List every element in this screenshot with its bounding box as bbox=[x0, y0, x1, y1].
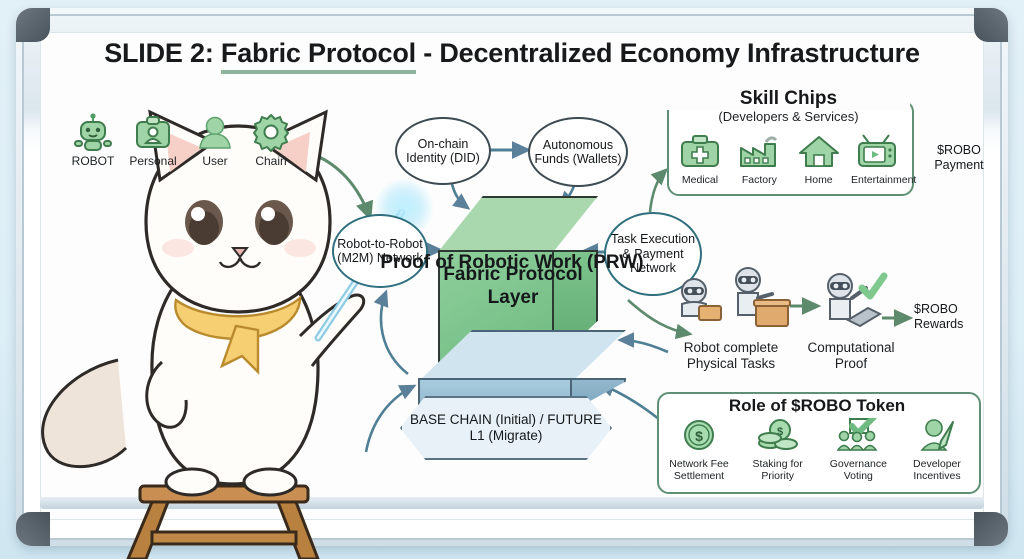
svg-text:$: $ bbox=[695, 428, 703, 444]
gear-icon bbox=[251, 112, 291, 152]
skill-chip-label: Home bbox=[792, 174, 846, 186]
prw-title: Proof of Robotic Work (PRW) bbox=[0, 252, 1024, 274]
id-card-icon bbox=[133, 112, 173, 152]
prw-step-label-2: Computational Proof bbox=[796, 340, 906, 371]
frame-corner-bottom-left bbox=[16, 512, 50, 546]
actor-chain[interactable]: Chain bbox=[240, 112, 302, 168]
skill-chips-subtitle: (Developers & Services) bbox=[667, 110, 910, 125]
cube-top-face bbox=[438, 196, 598, 252]
robot-working-icon bbox=[726, 266, 792, 330]
actor-user[interactable]: User bbox=[184, 112, 246, 168]
role-item-label: Developer Incentives bbox=[903, 458, 971, 482]
coin-stack-icon: $ bbox=[756, 418, 800, 452]
role-item-label: Network Fee Settlement bbox=[663, 458, 735, 482]
coin-icon: $ bbox=[681, 418, 717, 452]
frame-corner-bottom-right bbox=[974, 512, 1008, 546]
role-item-label: Governance Voting bbox=[820, 458, 896, 482]
skill-chip-label: Factory bbox=[732, 174, 786, 186]
robot-laptop-icon bbox=[818, 272, 890, 332]
slide-title: SLIDE 2: Fabric Protocol - Decentralized… bbox=[0, 38, 1024, 69]
skill-chip-factory[interactable]: Factory bbox=[732, 134, 786, 186]
node-wallets[interactable]: Autonomous Funds (Wallets) bbox=[528, 117, 628, 187]
role-token-title: Role of $ROBO Token bbox=[657, 396, 977, 416]
role-item-governance[interactable]: Governance Voting bbox=[820, 418, 896, 482]
robot-sitting-icon bbox=[672, 276, 732, 328]
actor-robot[interactable]: ROBOT bbox=[62, 112, 124, 168]
role-item-staking[interactable]: $ Staking for Priority bbox=[742, 418, 814, 482]
frame-corner-top-left bbox=[16, 8, 50, 42]
skill-chip-entertainment[interactable]: Entertainment bbox=[851, 134, 905, 186]
actor-label: Chain bbox=[240, 154, 302, 168]
tv-icon bbox=[855, 134, 901, 168]
node-base-chain[interactable]: BASE CHAIN (Initial) / FUTURE L1 (Migrat… bbox=[400, 396, 612, 460]
node-m2m[interactable]: Robot-to-Robot (M2M) Network bbox=[332, 214, 428, 288]
prw-output: $ROBO Rewards bbox=[914, 302, 1010, 332]
actor-label: ROBOT bbox=[62, 154, 124, 168]
prw-step-label-1: Robot complete Physical Tasks bbox=[660, 340, 802, 371]
actor-label: User bbox=[184, 154, 246, 168]
home-icon bbox=[798, 134, 840, 168]
whiteboard-tray bbox=[40, 497, 984, 509]
person-icon bbox=[195, 112, 235, 152]
skill-chips-row: Medical Factory Home bbox=[673, 134, 905, 186]
skill-chip-label: Medical bbox=[673, 174, 727, 186]
actor-label: Personal bbox=[122, 154, 184, 168]
role-item-label: Staking for Priority bbox=[742, 458, 814, 482]
actor-personal[interactable]: Personal bbox=[122, 112, 184, 168]
skill-chip-label: Entertainment bbox=[851, 174, 905, 186]
role-item-developer[interactable]: Developer Incentives bbox=[903, 418, 971, 482]
voting-icon bbox=[834, 418, 882, 452]
skill-chip-home[interactable]: Home bbox=[792, 134, 846, 186]
robot-icon bbox=[73, 112, 113, 152]
role-item-network-fee[interactable]: $ Network Fee Settlement bbox=[663, 418, 735, 482]
developer-pen-icon bbox=[917, 418, 957, 452]
factory-icon bbox=[738, 134, 780, 168]
slide-title-prefix: SLIDE 2: bbox=[104, 38, 221, 68]
skill-chips-output: $ROBO Payment bbox=[911, 143, 1007, 173]
medical-kit-icon bbox=[679, 134, 721, 168]
slide-title-suffix: - Decentralized Economy Infrastructure bbox=[416, 38, 920, 68]
slide-title-emphasis: Fabric Protocol bbox=[221, 38, 416, 74]
slide-canvas: SLIDE 2: Fabric Protocol - Decentralized… bbox=[0, 0, 1024, 559]
frame-corner-top-right bbox=[974, 8, 1008, 42]
skill-chips-title: Skill Chips bbox=[667, 88, 910, 110]
node-did[interactable]: On-chain Identity (DID) bbox=[395, 117, 491, 185]
skill-chip-medical[interactable]: Medical bbox=[673, 134, 727, 186]
role-token-row: $ Network Fee Settlement $ Staking for P… bbox=[663, 418, 971, 482]
